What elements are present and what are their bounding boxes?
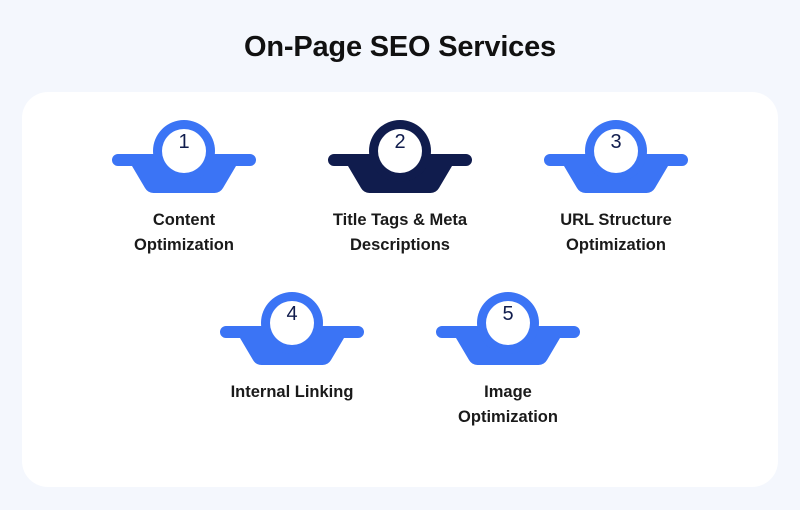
service-label-2: Title Tags & Meta Descriptions (333, 208, 467, 258)
bowl-ring-badge-icon: 3 (541, 108, 691, 194)
bowl-ring-badge-icon: 1 (109, 108, 259, 194)
service-label-4: Internal Linking (231, 380, 354, 405)
content-card: 1 Content Optimization (22, 92, 778, 487)
bowl-ring-badge-icon: 4 (217, 280, 367, 366)
service-item-2[interactable]: 2 Title Tags & Meta Descriptions (303, 108, 497, 258)
badge-shape-2 (328, 120, 472, 193)
badge-shape-1 (112, 120, 256, 193)
badge-shape-5 (436, 292, 580, 365)
service-item-5[interactable]: 5 Image Optimization (411, 280, 605, 430)
ring-inner-circle (162, 129, 206, 173)
badge-shape-3 (544, 120, 688, 193)
badge-shape-4 (220, 292, 364, 365)
service-item-1[interactable]: 1 Content Optimization (87, 108, 281, 258)
service-label-5: Image Optimization (458, 380, 558, 430)
service-label-3: URL Structure Optimization (560, 208, 672, 258)
infographic-root: On-Page SEO Services (0, 0, 800, 510)
service-item-3[interactable]: 3 URL Structure Optimization (519, 108, 713, 258)
service-label-1: Content Optimization (134, 208, 234, 258)
page-title: On-Page SEO Services (0, 28, 800, 66)
bottom-row: 4 Internal Linking (22, 280, 778, 430)
top-row: 1 Content Optimization (22, 108, 778, 258)
ring-inner-circle (594, 129, 638, 173)
ring-inner-circle (378, 129, 422, 173)
ring-inner-circle (270, 301, 314, 345)
bowl-ring-badge-icon: 5 (433, 280, 583, 366)
service-item-4[interactable]: 4 Internal Linking (195, 280, 389, 405)
ring-inner-circle (486, 301, 530, 345)
bowl-ring-badge-icon: 2 (325, 108, 475, 194)
items-container: 1 Content Optimization (22, 92, 778, 487)
